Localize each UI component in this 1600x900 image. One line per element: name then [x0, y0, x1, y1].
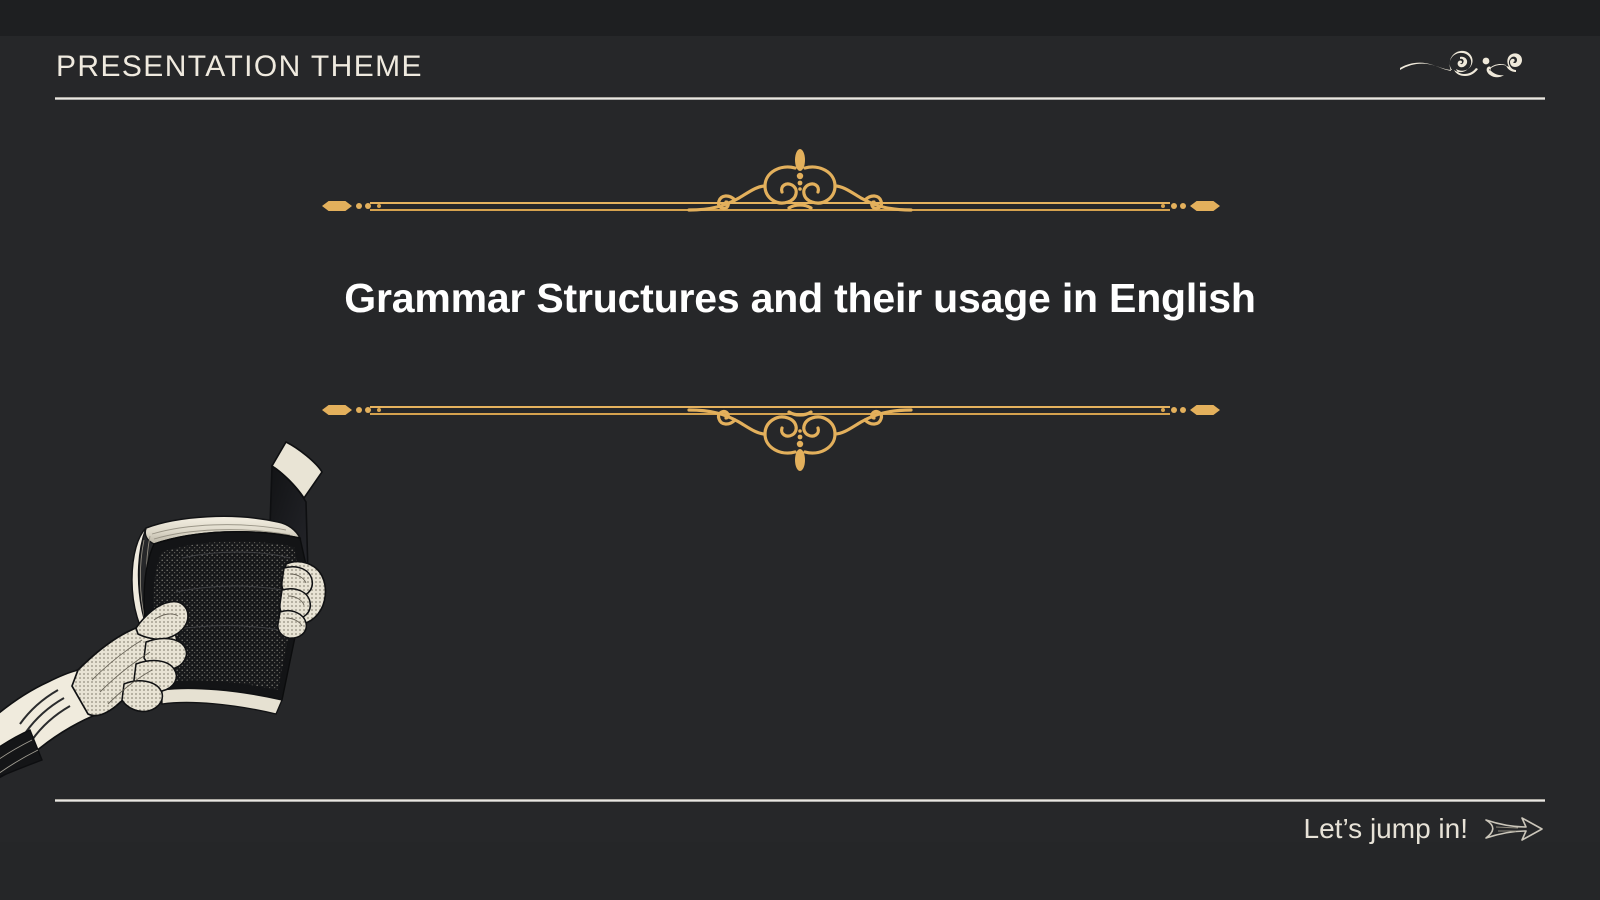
- slide-title: Grammar Structures and their usage in En…: [0, 275, 1600, 322]
- swirl-flourish-icon: [1398, 44, 1522, 84]
- sketch-arrow-right-icon[interactable]: [1484, 815, 1544, 843]
- gold-filigree-ornament-icon: [685, 404, 915, 472]
- next-slide-cta[interactable]: Let’s jump in!: [1304, 799, 1544, 859]
- page-title: PRESENTATION THEME: [56, 50, 423, 84]
- hands-holding-open-book-engraving: [0, 424, 356, 780]
- gold-filigree-ornament-icon: [685, 148, 915, 216]
- presentation-slide: PRESENTATION THEME: [0, 0, 1600, 900]
- top-band: [0, 0, 1600, 36]
- top-ornament-block: [0, 148, 1600, 220]
- header-divider-rule: [55, 97, 1545, 100]
- footer-cta-label: Let’s jump in!: [1304, 813, 1468, 845]
